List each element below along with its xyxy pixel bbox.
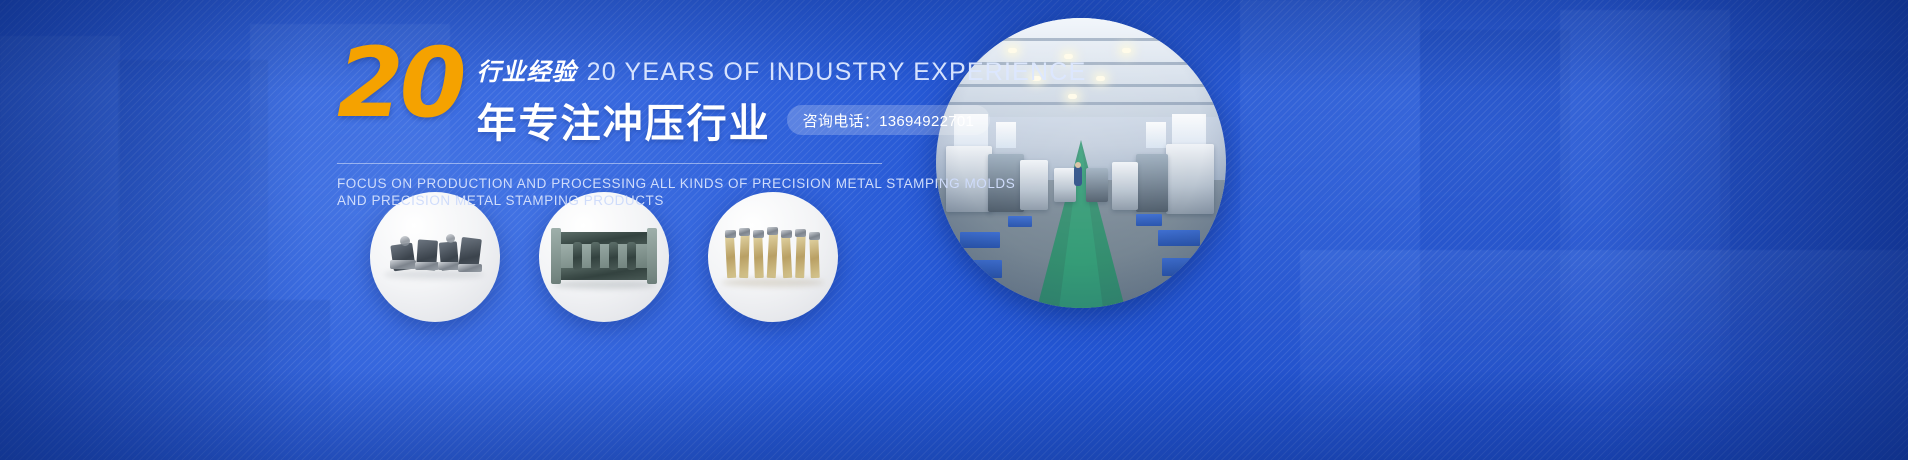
horizontal-divider — [337, 163, 882, 164]
description-line-1: FOCUS ON PRODUCTION AND PROCESSING ALL K… — [337, 175, 897, 192]
description-line-2: AND PRECISION METAL STAMPING PRODUCTS — [337, 192, 897, 209]
headline-row: 20 行业经验 20 YEARS OF INDUSTRY EXPERIENCE … — [337, 40, 897, 149]
phone-badge-text: 咨询电话：13694922701 — [803, 110, 975, 131]
product-photo-content — [708, 192, 838, 322]
description-paragraph: FOCUS ON PRODUCTION AND PROCESSING ALL K… — [337, 175, 897, 209]
product-photo-content — [539, 192, 669, 322]
experience-label-en: 20 YEARS OF INDUSTRY EXPERIENCE — [587, 58, 1087, 87]
background-ghost-shape — [0, 300, 330, 460]
product-photo-stamping-mold — [539, 192, 669, 322]
background-ghost-shape — [1300, 250, 1908, 460]
experience-label-cn: 行业经验 — [477, 52, 577, 87]
headline-copy-block: 20 行业经验 20 YEARS OF INDUSTRY EXPERIENCE … — [337, 40, 897, 209]
background-ghost-shape — [0, 36, 120, 336]
product-photo-brass-terminals — [708, 192, 838, 322]
headline-text-group: 行业经验 20 YEARS OF INDUSTRY EXPERIENCE 年专注… — [477, 40, 1087, 149]
product-photo-content — [370, 192, 500, 322]
phone-badge[interactable]: 咨询电话：13694922701 — [787, 105, 991, 135]
headline-line-1: 行业经验 20 YEARS OF INDUSTRY EXPERIENCE — [477, 52, 1087, 87]
promotional-banner: 20 行业经验 20 YEARS OF INDUSTRY EXPERIENCE … — [0, 0, 1908, 460]
years-number: 20 — [337, 40, 463, 126]
product-photo-connector-shells — [370, 192, 500, 322]
headline-main-cn: 年专注冲压行业 — [477, 91, 771, 149]
headline-line-2: 年专注冲压行业 咨询电话：13694922701 — [477, 91, 1087, 149]
